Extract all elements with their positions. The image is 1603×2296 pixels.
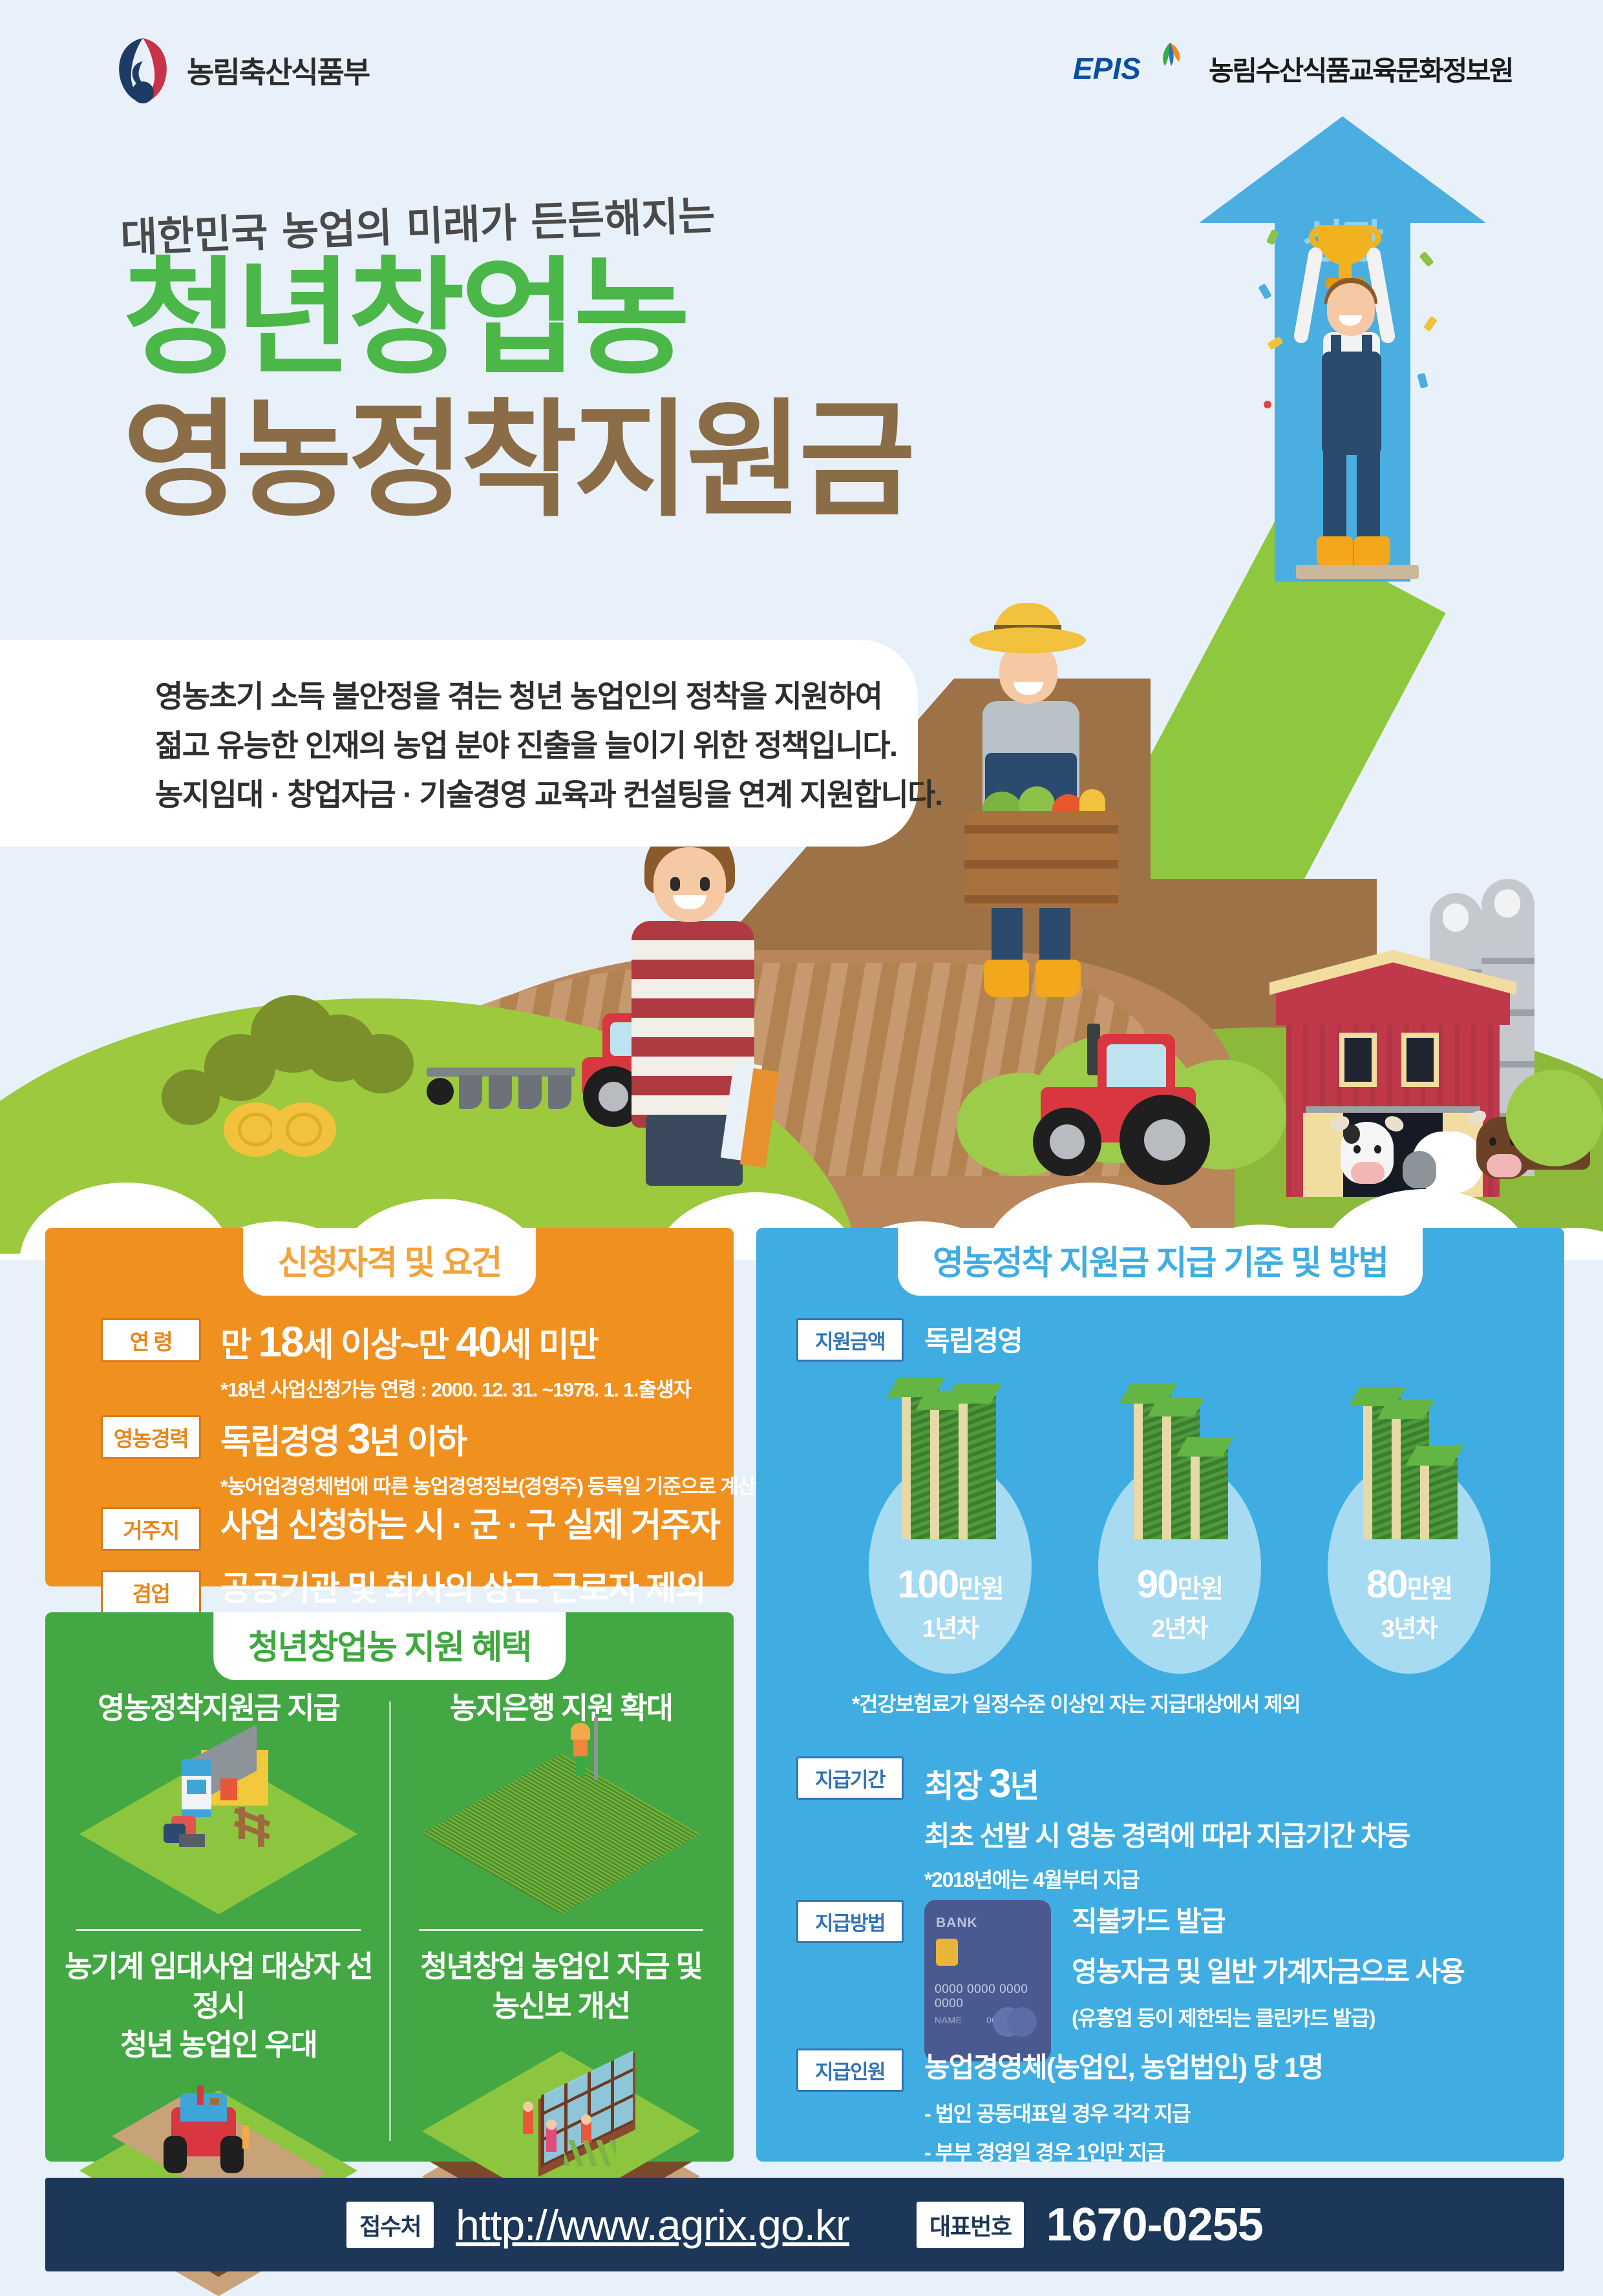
money-amount-label: 90만원: [1083, 1562, 1277, 1606]
panel-payment-title: 영농정착 지원금 지급 기준 및 방법: [898, 1228, 1423, 1296]
panel-requirements-title: 신청자격 및 요건: [243, 1228, 536, 1296]
money-stack-group: [1112, 1373, 1247, 1547]
silo-cap: [1443, 903, 1469, 932]
ministry-name: 농림축산식품부: [187, 49, 369, 92]
benefit-label: 청년창업 농업인 자금 및 농신보 개선: [399, 1947, 723, 2025]
farmer-boot: [1035, 960, 1081, 997]
benefit-label-line: 청년창업 농업인 자금 및: [399, 1947, 723, 1986]
payment-recipients-row: 지급인원 농업경영체(농업인, 농업법인) 당 1명 - 법인 공동대표일 경우…: [796, 2048, 1322, 2166]
hero-title-line2: 영농정착지원금: [123, 397, 911, 524]
trophy-figure-boot: [1354, 536, 1390, 567]
debit-card-icon: BANK 0000 0000 0000 0000 NAME 00/00: [924, 1900, 1051, 2061]
money-unit: 만원: [1178, 1575, 1223, 1603]
card-chip-icon: [936, 1939, 958, 1966]
farmer-boot: [984, 960, 1029, 997]
requirement-note: *농어업경영체법에 따른 농업경영정보(경영주) 등록일 기준으로 계산: [220, 1470, 756, 1499]
student-head: [653, 847, 726, 922]
money-year-label: 2년차: [1083, 1608, 1277, 1644]
page-header: 농림축산식품부 EPIS 농림수산식품교육문화정보원: [0, 0, 1603, 149]
panel-requirements: 신청자격 및 요건 연 령 만 18세 이상~만 40세 미만 *18년 사업신…: [45, 1228, 734, 1586]
footer-apply-tag: 접수처: [346, 2202, 434, 2248]
requirement-note: *18년 사업신청가능 연령 : 2000. 12. 31. ~1978. 1.…: [220, 1373, 691, 1402]
panel-benefits: 청년창업농 지원 혜택 영농정착지원금 지급: [45, 1612, 734, 2162]
barn-window: [1401, 1033, 1439, 1087]
crate-slat: [964, 860, 1118, 869]
money-amount-label: 80만원: [1312, 1562, 1506, 1606]
payment-amount-note: *건강보험료가 일정수준 이상인 자는 지급대상에서 제외: [852, 1688, 1300, 1718]
ministry-logo: 농림축산식품부: [113, 36, 369, 105]
payment-period-note: *2018년에는 4월부터 지급: [924, 1864, 1410, 1893]
payment-method-note: (유흥업 등이 제한되는 클린카드 발급): [1072, 2002, 1464, 2032]
card-holder-name: NAME: [935, 2015, 962, 2025]
payment-period-row: 지급기간 최장 3년 최초 선발 시 영농 경력에 따라 지급기간 차등 *20…: [796, 1756, 1410, 1893]
benefit-label-line: 농신보 개선: [399, 1986, 723, 2026]
trophy-figure-head: [1327, 283, 1375, 336]
money-value: 100: [897, 1563, 958, 1606]
crate-slat: [964, 825, 1118, 834]
trophy-figure-overalls: [1322, 352, 1381, 455]
plow-wheel: [427, 1078, 454, 1105]
payment-method-row: 지급방법 BANK 0000 0000 0000 0000 NAME 00/00…: [796, 1900, 1464, 2061]
panel-benefits-title: 청년창업농 지원 혜택: [213, 1612, 566, 1680]
payment-recipients-bullet: - 부부 경영일 경우 1인만 지급: [924, 2136, 1322, 2166]
payment-tag-amount: 지원금액: [796, 1318, 904, 1362]
rice-field-icon: [467, 1740, 655, 1888]
requirement-tag: 겸업: [101, 1570, 201, 1614]
crate-slat: [964, 895, 1118, 903]
bank-building-icon: [125, 1740, 312, 1888]
payment-tag-period: 지급기간: [796, 1756, 904, 1800]
trophy-figure-boot: [1317, 536, 1353, 567]
description-text: 영농초기 소득 불안정을 겪는 청년 농업인의 정착을 지원하여 젊고 유능한 …: [155, 672, 942, 819]
payment-period-title: 최장 3년: [924, 1756, 1410, 1812]
benefit-label: 농지은행 지원 확대: [399, 1689, 723, 1728]
money-unit: 만원: [1407, 1575, 1452, 1603]
epis-mark-icon: EPIS: [1073, 40, 1196, 97]
benefit-label: 영농정착지원금 지급: [57, 1689, 380, 1728]
requirement-tag: 연 령: [101, 1318, 201, 1362]
description-line: 젊고 유능한 인재의 농업 분야 진출을 늘이기 위한 정책입니다.: [155, 721, 942, 770]
barn-window: [1339, 1033, 1377, 1087]
payment-recipients-bullet: - 법인 공동대표일 경우 각각 지급: [924, 2098, 1322, 2127]
panel-payment: 영농정착 지원금 지급 기준 및 방법 지원금액 독립경영 100만원 1년차: [756, 1228, 1564, 2162]
requirement-title: 만 18세 이상~만 40세 미만: [220, 1320, 691, 1364]
svg-text:EPIS: EPIS: [1073, 52, 1141, 85]
payment-period-sub: 최초 선발 시 영농 경력에 따라 지급기간 차등: [924, 1817, 1410, 1856]
farmer-hat-brim: [970, 627, 1086, 653]
benefit-item: 농지은행 지원 확대: [399, 1689, 723, 1888]
money-item: 80만원 3년차: [1312, 1389, 1506, 1674]
benefits-horizontal-divider: [76, 1929, 361, 1931]
plow-tooth: [548, 1075, 571, 1109]
money-stack-group: [882, 1373, 1018, 1547]
requirement-row-concurrent-job: 겸업 공공기관 및 회사의 상근 근로자 제외: [101, 1570, 705, 1614]
payment-method-line1: 직불카드 발급: [1072, 1902, 1464, 1941]
footer-contact-bar: 접수처 http://www.agrix.go.kr 대표번호 1670-025…: [45, 2178, 1564, 2271]
hero-title-line1: 청년창업농: [123, 255, 686, 382]
trophy-arm: [1293, 246, 1324, 344]
plow-tooth: [518, 1075, 542, 1109]
payment-recipients-title: 농업경영체(농업인, 농업법인) 당 1명: [924, 2048, 1322, 2087]
requirement-row-residence: 거주지 사업 신청하는 시 · 군 · 구 실제 거주자: [101, 1507, 719, 1551]
bush-icon: [349, 1034, 414, 1093]
money-stack-group: [1341, 1373, 1477, 1547]
money-year-label: 3년차: [1312, 1608, 1506, 1644]
money-unit: 만원: [958, 1575, 1003, 1603]
footer-phone-tag: 대표번호: [917, 2202, 1024, 2248]
money-amount-label: 100만원: [853, 1562, 1047, 1606]
description-line: 농지임대 · 창업자금 · 기술경영 교육과 컨설팅을 연계 지원합니다.: [155, 770, 942, 819]
payment-amount-row: 지원금액 독립경영: [796, 1318, 1022, 1362]
benefits-horizontal-divider: [419, 1929, 703, 1931]
payment-method-line2: 영농자금 및 일반 가계자금으로 사용: [1072, 1953, 1464, 1992]
student-eye: [700, 877, 710, 891]
epis-name: 농림수산식품교육문화정보원: [1209, 49, 1513, 89]
plow-tooth: [489, 1075, 512, 1109]
farmer-with-crate-figure: [957, 611, 1151, 1011]
taegeuk-emblem-icon: [113, 36, 173, 105]
student-eye: [670, 877, 680, 891]
card-bank-label: BANK: [936, 1915, 978, 1931]
requirement-title: 독립경영 3년 이하: [220, 1417, 756, 1461]
benefit-item: 영농정착지원금 지급: [57, 1689, 380, 1888]
wooden-plank: [1296, 565, 1419, 579]
greenhouse-icon: [467, 2037, 655, 2185]
requirement-row-experience: 영농경력 독립경영 3년 이하 *농어업경영체법에 따른 농업경영정보(경영주)…: [101, 1415, 756, 1499]
farmer-with-trophy-figure: [1283, 213, 1419, 595]
iso-grass-top: [422, 1753, 700, 1913]
requirement-tag: 영농경력: [101, 1415, 201, 1459]
card-network-circle: [1007, 2007, 1037, 2037]
requirement-row-age: 연 령 만 18세 이상~만 40세 미만 *18년 사업신청가능 연령 : 2…: [101, 1318, 691, 1402]
money-bundle: [1191, 1449, 1228, 1539]
trophy-stem: [1339, 264, 1352, 279]
footer-phone-number: 1670-0255: [1046, 2198, 1262, 2251]
benefit-label: 농기계 임대사업 대상자 선정시 청년 농업인 우대: [57, 1947, 380, 2065]
money-year-label: 1년차: [853, 1608, 1047, 1644]
benefit-item: 청년창업 농업인 자금 및 농신보 개선: [399, 1947, 723, 2185]
payment-amount-heading: 독립경영: [924, 1318, 1022, 1361]
epis-logo: EPIS 농림수산식품교육문화정보원: [1073, 40, 1513, 97]
benefit-label-line: 농기계 임대사업 대상자 선정시: [57, 1947, 380, 2025]
money-item: 100만원 1년차: [853, 1389, 1047, 1674]
money-bundle: [1420, 1458, 1458, 1539]
footer-url-link[interactable]: http://www.agrix.go.kr: [456, 2200, 849, 2249]
benefit-label-line: 청년 농업인 우대: [57, 2025, 380, 2065]
requirement-title: 사업 신청하는 시 · 군 · 구 실제 거주자: [220, 1508, 719, 1544]
trophy-figure-leg: [1323, 450, 1346, 545]
hero-illustration-area: 정착 성장 창업: [0, 0, 1603, 1260]
silo-cap: [1494, 889, 1520, 918]
payment-tag-method: 지급방법: [796, 1900, 904, 1943]
money-value: 90: [1137, 1563, 1178, 1606]
requirement-tag: 거주지: [101, 1507, 201, 1551]
money-item: 90만원 2년차: [1083, 1389, 1277, 1674]
description-line: 영농초기 소득 불안정을 겪는 청년 농업인의 정착을 지원하여: [155, 672, 942, 721]
benefits-grid: 영농정착지원금 지급: [45, 1689, 734, 2160]
money-bundle: [959, 1396, 996, 1539]
plow-tooth: [459, 1075, 482, 1109]
support-amount-chart: 100만원 1년차 90만원 2년차: [853, 1389, 1506, 1674]
trophy-icon: [1318, 225, 1372, 265]
trophy-figure-leg: [1357, 450, 1380, 545]
payment-tag-recipients: 지급인원: [796, 2048, 904, 2092]
card-number: 0000 0000 0000 0000: [935, 1983, 1051, 2011]
requirement-title: 공공기관 및 회사의 상근 근로자 제외: [220, 1572, 705, 1607]
money-value: 80: [1366, 1563, 1407, 1606]
benefits-vertical-divider: [389, 1701, 391, 2141]
